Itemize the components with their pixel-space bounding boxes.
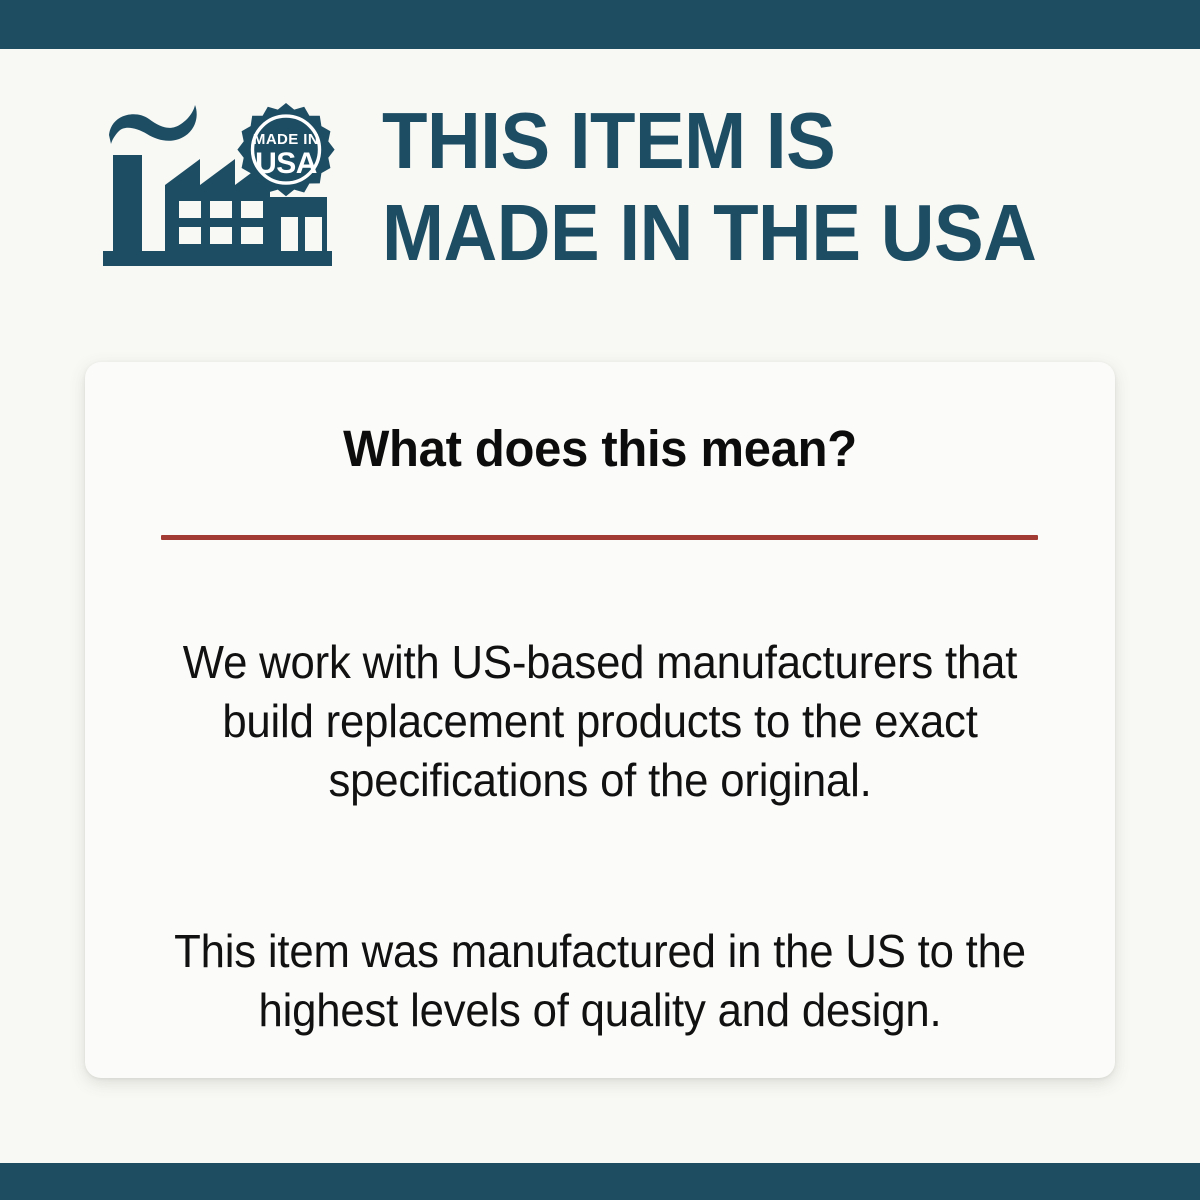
page-canvas: MADE IN USA THIS ITEM IS MADE IN THE USA… — [0, 49, 1200, 1163]
title-line-2: MADE IN THE USA — [382, 187, 1098, 279]
svg-text:USA: USA — [255, 147, 317, 180]
title-line-1: THIS ITEM IS — [382, 95, 1098, 187]
card-body: We work with US-based manufacturers that… — [145, 587, 1055, 1086]
factory-icon: MADE IN USA — [95, 99, 340, 284]
page-title: THIS ITEM IS MADE IN THE USA — [382, 95, 1152, 279]
header: MADE IN USA THIS ITEM IS MADE IN THE USA — [95, 99, 1155, 289]
info-card: What does this mean? We work with US-bas… — [85, 362, 1115, 1078]
bottom-brand-band — [0, 1163, 1200, 1200]
card-paragraph-1: We work with US-based manufacturers that… — [168, 633, 1033, 810]
card-divider — [161, 535, 1038, 540]
card-paragraph-2: This item was manufactured in the US to … — [168, 922, 1033, 1040]
top-brand-band — [0, 0, 1200, 49]
card-heading: What does this mean? — [106, 420, 1095, 478]
svg-text:MADE IN: MADE IN — [253, 131, 319, 148]
